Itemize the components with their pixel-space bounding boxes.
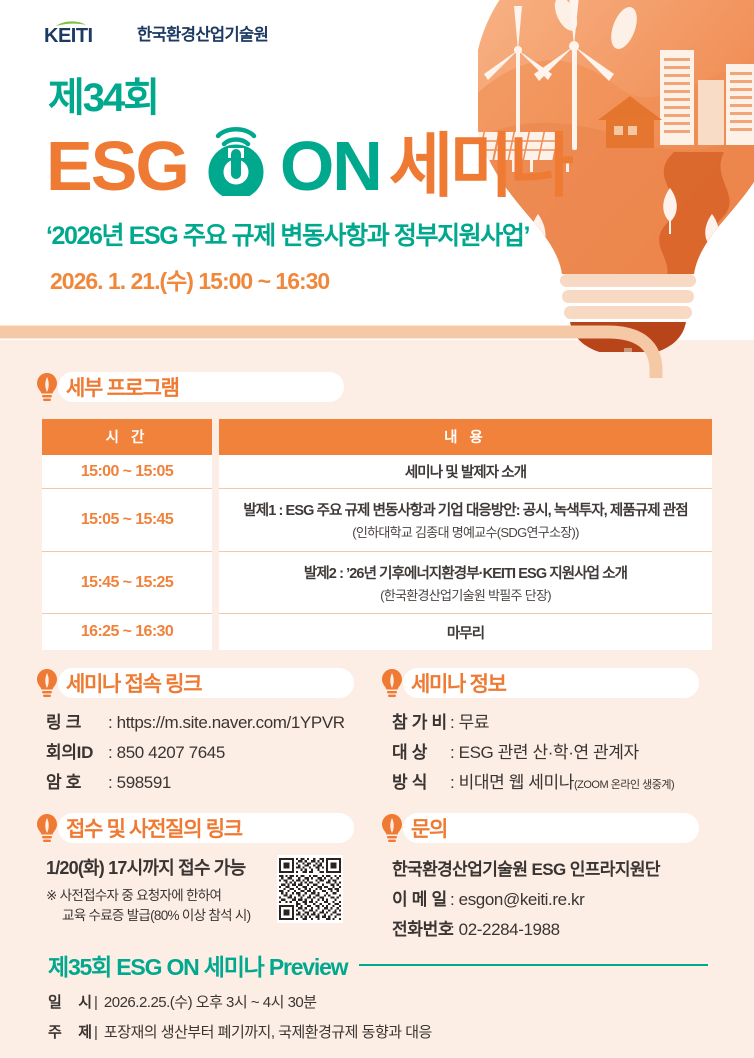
email-label: 이 메 일: [392, 885, 450, 910]
preview-separator: |: [94, 994, 98, 1011]
preview-separator: |: [94, 1024, 98, 1041]
preview-header: 제35회 ESG ON 세미나 Preview: [48, 948, 708, 982]
edition-kicker: 제34회: [48, 78, 158, 118]
contact-row: 전화번호 : 02-2284-1988: [392, 915, 660, 940]
lightbulb-icon: [381, 813, 403, 843]
fee-value: : 무료: [450, 708, 489, 733]
preview-topic-label-char2: 제: [78, 1021, 92, 1042]
bulb-base-icon: [560, 274, 696, 352]
preview-title: 제35회 ESG ON 세미나 Preview: [48, 948, 347, 982]
program-table: 시 간 내 용 15:00 ~ 15:05 세미나 및 발제자 소개 15:05…: [42, 419, 712, 650]
preview-topic-label-char1: 주: [48, 1021, 62, 1042]
svg-text:KEITI: KEITI: [44, 25, 93, 46]
table-row: 16:25 ~ 16:30 마무리: [42, 614, 712, 650]
keiti-logo: KEITI 한국환경산업기술원: [44, 20, 268, 46]
access-link-row: 암 호 : 598591: [46, 768, 345, 793]
cell-content: 발제1 : ESG 주요 규제 변동사항과 기업 대응방안: 공시, 녹색투자,…: [219, 489, 712, 552]
lightbulb-icon: [381, 668, 403, 698]
preview-date-label-char2: 시: [78, 991, 92, 1012]
access-link-details: 링 크 : https://m.site.naver.com/1YPVR 회의I…: [46, 708, 345, 798]
keiti-logo-text: 한국환경산업기술원: [137, 21, 268, 45]
preview-row: 주 제 | 포장재의 생산부터 폐기까지, 국제환경규제 동향과 대응: [48, 1021, 708, 1042]
next-seminar-preview: 제35회 ESG ON 세미나 Preview 일 시 | 2026.2.25.…: [48, 948, 708, 1042]
cell-content: 발제2 : ’26년 기후에너지환경부·KEITI ESG 지원사업 소개 (한…: [219, 552, 712, 614]
column-header-time: 시 간: [42, 419, 212, 455]
preview-topic-value: 포장재의 생산부터 폐기까지, 국제환경규제 동향과 대응: [104, 1021, 432, 1042]
preview-date-label-char1: 일: [48, 991, 62, 1012]
audience-label: 대 상: [392, 738, 450, 763]
access-link-row: 회의ID : 850 4207 7645: [46, 738, 345, 763]
cell-time: 15:45 ~ 15:25: [42, 552, 212, 614]
cell-time: 15:00 ~ 15:05: [42, 455, 212, 489]
registration-details: 1/20(화) 17시까지 접수 가능 ※ 사전접수자 중 요청자에 한하여 교…: [46, 854, 276, 925]
registration-section-header: 접수 및 사전질의 링크: [36, 813, 356, 843]
audience-value: : ESG 관련 산·학·연 관계자: [450, 738, 639, 763]
cell-time: 16:25 ~ 16:30: [42, 614, 212, 650]
power-on-icon: [216, 148, 256, 192]
preview-topic-label: 주 제: [48, 1021, 92, 1042]
table-row: 15:00 ~ 15:05 세미나 및 발제자 소개: [42, 455, 712, 489]
contact-section-header: 문의: [381, 813, 701, 843]
contact-details: 한국환경산업기술원 ESG 인프라지원단 이 메 일 : esgon@keiti…: [392, 855, 660, 945]
registration-deadline: 1/20(화) 17시까지 접수 가능: [46, 854, 276, 880]
passcode-value: : 598591: [108, 773, 171, 793]
preview-date-value: 2026.2.25.(수) 오후 3시 ~ 4시 30분: [104, 991, 317, 1012]
passcode-label: 암 호: [46, 768, 108, 793]
seminar-info-row: 방 식 : 비대면 웹 세미나 (ZOOM 온라인 생중계): [392, 768, 674, 793]
program-section-header: 세부 프로그램: [36, 372, 346, 402]
meeting-id-label: 회의ID: [46, 738, 108, 763]
table-header-row: 시 간 내 용: [42, 419, 712, 455]
seminar-info-section-header: 세미나 정보: [381, 668, 701, 698]
preview-rule: [359, 964, 708, 966]
section-pill: [403, 813, 699, 843]
seminar-info-details: 참 가 비 : 무료 대 상 : ESG 관련 산·학·연 관계자 방 식 : …: [392, 708, 674, 798]
seminar-info-row: 참 가 비 : 무료: [392, 708, 674, 733]
contact-row: 이 메 일 : esgon@keiti.re.kr: [392, 885, 660, 910]
table-row: 15:45 ~ 15:25 발제2 : ’26년 기후에너지환경부·KEITI …: [42, 552, 712, 614]
format-note: (ZOOM 온라인 생중계): [574, 776, 674, 792]
title-on-power-icon: [198, 122, 328, 196]
seminar-info-section-title: 세미나 정보: [411, 668, 506, 698]
format-value: : 비대면 웹 세미나: [450, 768, 574, 793]
meeting-id-value: : 850 4207 7645: [108, 743, 225, 763]
cell-content-main: 세미나 및 발제자 소개: [405, 461, 526, 482]
format-label: 방 식: [392, 768, 450, 793]
access-link-section-header: 세미나 접속 링크: [36, 668, 356, 698]
phone-value: : 02-2284-1988: [450, 920, 560, 940]
contact-section-title: 문의: [411, 813, 447, 843]
cell-content-sub: (인하대학교 김종대 명예교수(SDG연구소장)): [352, 522, 579, 541]
email-value[interactable]: : esgon@keiti.re.kr: [450, 890, 584, 910]
column-header-content: 내 용: [219, 419, 712, 455]
lightbulb-icon: [36, 668, 58, 698]
access-link-url[interactable]: : https://m.site.naver.com/1YPVR: [108, 713, 345, 733]
seminar-info-row: 대 상 : ESG 관련 산·학·연 관계자: [392, 738, 674, 763]
title-esg: ESG: [46, 136, 188, 196]
preview-date-label: 일 시: [48, 991, 92, 1012]
cell-content: 세미나 및 발제자 소개: [219, 455, 712, 489]
preview-row: 일 시 | 2026.2.25.(수) 오후 3시 ~ 4시 30분: [48, 991, 708, 1012]
lightbulb-icon: [36, 813, 58, 843]
access-link-section-title: 세미나 접속 링크: [66, 668, 201, 698]
contact-organization: 한국환경산업기술원 ESG 인프라지원단: [392, 855, 660, 880]
access-link-row: 링 크 : https://m.site.naver.com/1YPVR: [46, 708, 345, 733]
fee-label: 참 가 비: [392, 708, 450, 733]
cell-content-main: 발제2 : ’26년 기후에너지환경부·KEITI ESG 지원사업 소개: [304, 562, 627, 583]
keiti-wordmark-icon: KEITI: [44, 20, 130, 46]
subtitle: ‘2026년 ESG 주요 규제 변동사항과 정부지원사업’: [46, 216, 529, 252]
lightbulb-icon: [36, 372, 58, 402]
event-datetime: 2026. 1. 21.(수) 15:00 ~ 16:30: [50, 262, 329, 296]
qr-code-icon[interactable]: [277, 855, 343, 923]
registration-note-line1: ※ 사전접수자 중 요청자에 한하여: [46, 886, 276, 906]
registration-note-line2: 교육 수료증 발급(80% 이상 참석 시): [46, 906, 276, 926]
cell-content-sub: (한국환경산업기술원 박필주 단장): [380, 585, 551, 604]
table-row: 15:05 ~ 15:45 발제1 : ESG 주요 규제 변동사항과 기업 대…: [42, 489, 712, 552]
cell-content-main: 발제1 : ESG 주요 규제 변동사항과 기업 대응방안: 공시, 녹색투자,…: [243, 499, 687, 520]
access-link-label: 링 크: [46, 708, 108, 733]
phone-label: 전화번호: [392, 915, 450, 940]
title-seminar: 세미나: [389, 136, 570, 196]
poster-root: KEITI 한국환경산업기술원 제34회 ESG O: [0, 0, 754, 1058]
registration-note: ※ 사전접수자 중 요청자에 한하여 교육 수료증 발급(80% 이상 참석 시…: [46, 886, 276, 925]
cell-content: 마무리: [219, 614, 712, 650]
registration-section-title: 접수 및 사전질의 링크: [66, 813, 242, 843]
cell-content-main: 마무리: [447, 622, 484, 643]
cell-time: 15:05 ~ 15:45: [42, 489, 212, 552]
program-section-title: 세부 프로그램: [66, 372, 179, 402]
main-title: ESG ON 세미나: [46, 122, 570, 196]
